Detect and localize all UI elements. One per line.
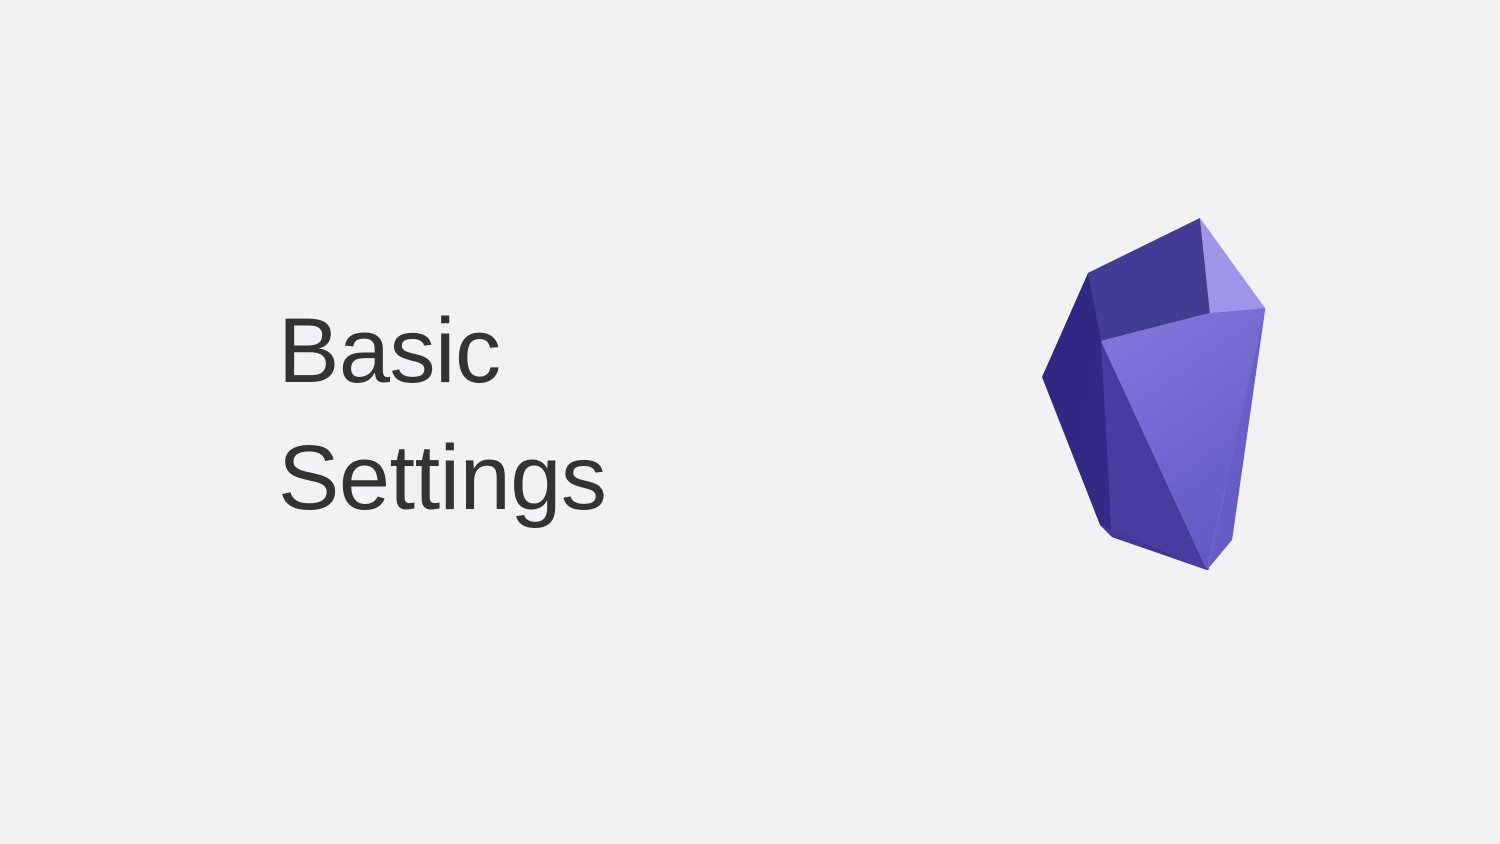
crystal-gem-illustration	[1020, 195, 1290, 595]
page-title-line-1: Basic	[278, 288, 838, 415]
page-title: Basic Settings	[278, 288, 838, 542]
crystal-gem-svg	[1020, 195, 1290, 595]
slide-canvas: Basic Settings	[0, 0, 1500, 844]
gem-facet-top-highlight	[1200, 218, 1265, 313]
page-title-line-2: Settings	[278, 415, 838, 542]
